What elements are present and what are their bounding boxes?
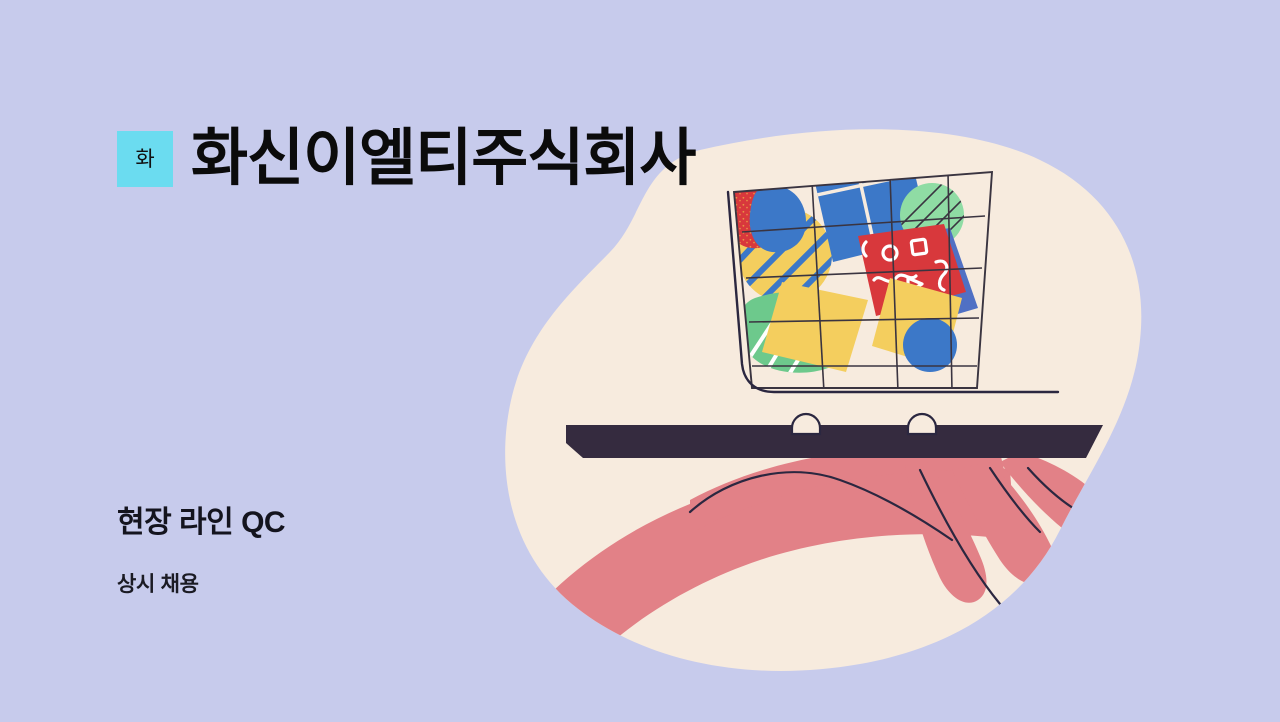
company-name: 화신이엘티주식회사 (191, 128, 695, 190)
blue-speckled-circle (903, 318, 957, 372)
job-posting-card: 화 화신이엘티주식회사 현장 라인 QC 상시 채용 (0, 0, 1280, 722)
job-title: 현장 라인 QC (117, 505, 285, 541)
brand-row: 화 화신이엘티주식회사 (117, 128, 695, 190)
job-recruitment-type: 상시 채용 (117, 572, 199, 597)
illustration-shopping-cart (0, 0, 1280, 722)
dark-surface-bar (566, 425, 1103, 458)
company-logo-badge: 화 (117, 131, 173, 187)
